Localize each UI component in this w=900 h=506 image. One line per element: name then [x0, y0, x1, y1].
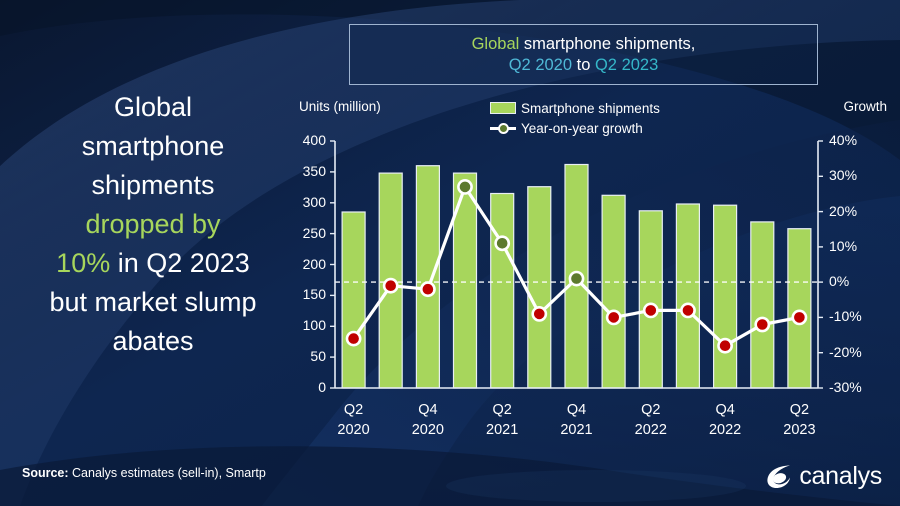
chart-title-period-end: Q2 2023 [595, 56, 658, 74]
source-label: Source: [22, 466, 69, 480]
x-tick-year: 2021 [547, 420, 607, 440]
left-tick-0: 0 [290, 379, 326, 395]
x-tick-quarter: Q4 [398, 400, 458, 420]
legend-item-line: Year-on-year growth [490, 118, 660, 138]
bar-q4-2020 [416, 166, 439, 388]
source-text: Canalys estimates (sell-in), Smartp [69, 466, 266, 480]
x-tick-q2-2020: Q22020 [324, 400, 384, 440]
growth-marker-q1-2021 [458, 180, 471, 193]
chart-area: Units (million) Growth Smartphone shipme… [290, 96, 890, 456]
headline-line-4: dropped by [8, 205, 298, 244]
source-note: Source: Canalys estimates (sell-in), Sma… [22, 466, 266, 480]
slide-canvas: Global smartphone shipments dropped by 1… [0, 0, 900, 506]
canalys-wordmark: canalys [799, 462, 882, 491]
bar-swatch-icon [490, 102, 516, 114]
x-tick-q2-2023: Q22023 [769, 400, 829, 440]
x-tick-q2-2021: Q22021 [472, 400, 532, 440]
x-tick-year: 2021 [472, 420, 532, 440]
canalys-mark-icon [763, 461, 793, 491]
x-tick-quarter: Q2 [769, 400, 829, 420]
right-axis-title: Growth [843, 99, 887, 114]
headline-line-2: smartphone [8, 127, 298, 166]
chart-title-line-1: Global smartphone shipments, [472, 34, 696, 55]
x-tick-quarter: Q2 [472, 400, 532, 420]
legend-label-bars: Smartphone shipments [521, 101, 660, 116]
x-tick-q4-2022: Q42022 [695, 400, 755, 440]
growth-marker-q3-2022 [681, 304, 694, 317]
x-tick-q4-2020: Q42020 [398, 400, 458, 440]
growth-marker-q4-2021 [570, 272, 583, 285]
legend-item-bars: Smartphone shipments [490, 98, 660, 118]
growth-marker-q2-2022 [644, 304, 657, 317]
right-tick-neg30pct: -30% [829, 379, 862, 395]
x-tick-year: 2023 [769, 420, 829, 440]
x-tick-year: 2022 [621, 420, 681, 440]
headline-line-6: but market slump [8, 283, 298, 322]
x-tick-year: 2020 [398, 420, 458, 440]
growth-marker-q2-2023 [793, 311, 806, 324]
x-tick-year: 2020 [324, 420, 384, 440]
chart-title-box: Global smartphone shipments, Q2 2020 to … [349, 24, 818, 85]
headline-line-3: shipments [8, 166, 298, 205]
bar-q1-2022 [602, 195, 625, 388]
bar-q2-2022 [639, 211, 662, 388]
chart-title-rest: smartphone shipments, [519, 35, 695, 53]
left-tick-250: 250 [290, 225, 326, 241]
x-tick-q2-2022: Q22022 [621, 400, 681, 440]
headline-percent: 10% [56, 248, 110, 278]
bar-q4-2022 [714, 205, 737, 388]
left-tick-350: 350 [290, 163, 326, 179]
growth-marker-q2-2021 [496, 237, 509, 250]
headline-line-5: 10% in Q2 2023 [8, 244, 298, 283]
growth-marker-q3-2021 [533, 307, 546, 320]
left-tick-150: 150 [290, 286, 326, 302]
right-tick-20pct: 20% [829, 203, 857, 219]
right-tick-neg20pct: -20% [829, 344, 862, 360]
growth-marker-q1-2022 [607, 311, 620, 324]
bar-q2-2023 [788, 229, 811, 388]
headline-line-7: abates [8, 322, 298, 361]
x-tick-quarter: Q2 [621, 400, 681, 420]
left-tick-100: 100 [290, 317, 326, 333]
right-tick-30pct: 30% [829, 167, 857, 183]
right-tick-10pct: 10% [829, 238, 857, 254]
x-tick-year: 2022 [695, 420, 755, 440]
x-tick-q4-2021: Q42021 [547, 400, 607, 440]
right-tick-0pct: 0% [829, 273, 849, 289]
headline-line-1: Global [8, 88, 298, 127]
right-tick-neg10pct: -10% [829, 308, 862, 324]
growth-marker-q3-2020 [384, 279, 397, 292]
chart-title-global: Global [472, 35, 520, 53]
canalys-logo: canalys [763, 461, 882, 491]
bar-q3-2022 [676, 204, 699, 388]
left-tick-50: 50 [290, 348, 326, 364]
headline: Global smartphone shipments dropped by 1… [8, 88, 298, 361]
legend-label-line: Year-on-year growth [521, 121, 643, 136]
growth-marker-q4-2022 [719, 339, 732, 352]
growth-marker-q2-2020 [347, 332, 360, 345]
left-tick-300: 300 [290, 194, 326, 210]
bar-q1-2023 [751, 222, 774, 388]
headline-line-5-rest: in Q2 2023 [110, 248, 250, 278]
x-tick-quarter: Q4 [695, 400, 755, 420]
left-tick-200: 200 [290, 256, 326, 272]
left-tick-400: 400 [290, 132, 326, 148]
x-tick-quarter: Q4 [547, 400, 607, 420]
chart-legend: Smartphone shipments Year-on-year growth [490, 98, 660, 138]
bar-q2-2020 [342, 212, 365, 388]
bar-q3-2021 [528, 187, 551, 388]
chart-title-to: to [572, 56, 595, 74]
bar-q2-2021 [491, 194, 514, 389]
left-axis-title: Units (million) [299, 99, 381, 114]
growth-marker-q4-2020 [421, 283, 434, 296]
chart-title-period-start: Q2 2020 [509, 56, 572, 74]
line-marker-icon [490, 121, 516, 135]
x-tick-quarter: Q2 [324, 400, 384, 420]
chart-title-line-2: Q2 2020 to Q2 2023 [509, 55, 659, 76]
growth-marker-q1-2023 [756, 318, 769, 331]
right-tick-40pct: 40% [829, 132, 857, 148]
